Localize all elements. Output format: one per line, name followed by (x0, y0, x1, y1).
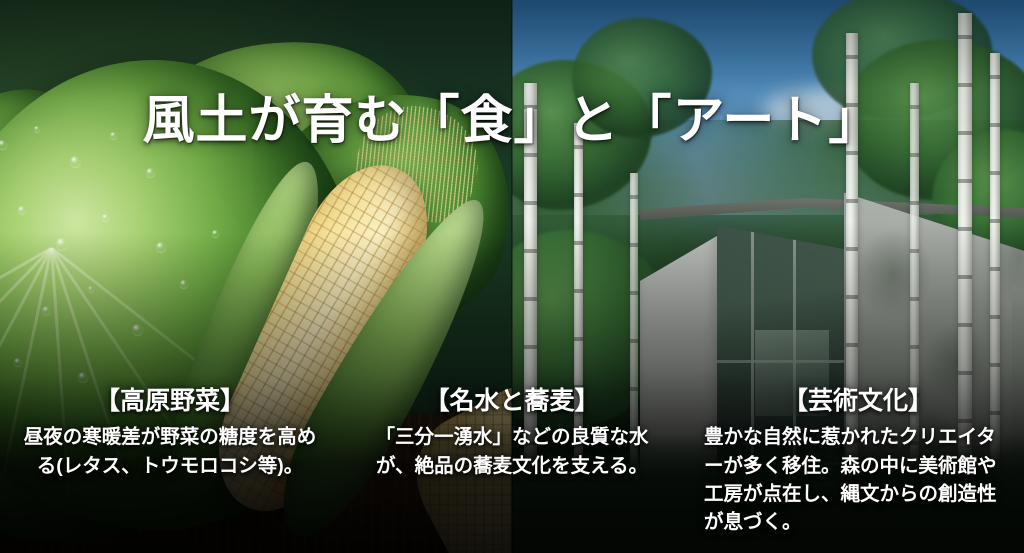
caption-row: 【高原野菜】 昼夜の寒暖差が野菜の糖度を高める(レタス、トウモロコシ等)。 【名… (0, 386, 1024, 536)
caption-title: 【名水と蕎麦】 (358, 386, 666, 417)
caption-title: 【高原野菜】 (22, 386, 318, 417)
caption-body: 豊かな自然に惹かれたクリエイターが多く移住。森の中に美術館や工房が点在し、縄文か… (704, 423, 1012, 536)
page-title: 風土が育む「食」と「アート」 (0, 93, 1024, 150)
caption-art-culture: 【芸術文化】 豊かな自然に惹かれたクリエイターが多く移住。森の中に美術館や工房が… (684, 386, 1024, 536)
caption-body: 昼夜の寒暖差が野菜の糖度を高める(レタス、トウモロコシ等)。 (22, 423, 318, 480)
caption-highland-vegetables: 【高原野菜】 昼夜の寒暖差が野菜の糖度を高める(レタス、トウモロコシ等)。 (0, 386, 340, 536)
slide-root: 風土が育む「食」と「アート」 【高原野菜】 昼夜の寒暖差が野菜の糖度を高める(レ… (0, 0, 1024, 553)
caption-body: 「三分一湧水」などの良質な水が、絶品の蕎麦文化を支える。 (358, 423, 666, 480)
caption-title: 【芸術文化】 (704, 386, 1012, 417)
caption-water-and-soba: 【名水と蕎麦】 「三分一湧水」などの良質な水が、絶品の蕎麦文化を支える。 (340, 386, 684, 536)
